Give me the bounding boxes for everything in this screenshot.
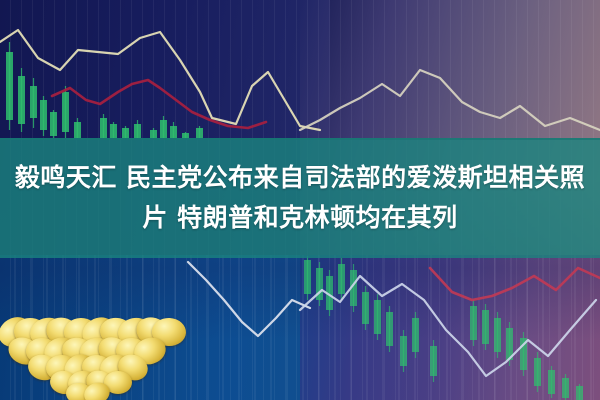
headline-text-block: 毅鸣天汇 民主党公布来自司法部的爱泼斯坦相关照 片 特朗普和克林顿均在其列 xyxy=(0,138,600,258)
news-banner: 毅鸣天汇 民主党公布来自司法部的爱泼斯坦相关照 片 特朗普和克林顿均在其列 xyxy=(0,0,600,400)
headline-line-2: 片 特朗普和克林顿均在其列 xyxy=(15,198,585,238)
headline-line-1: 毅鸣天汇 民主党公布来自司法部的爱泼斯坦相关照 xyxy=(15,158,585,198)
gold-coin-pile xyxy=(0,314,194,400)
